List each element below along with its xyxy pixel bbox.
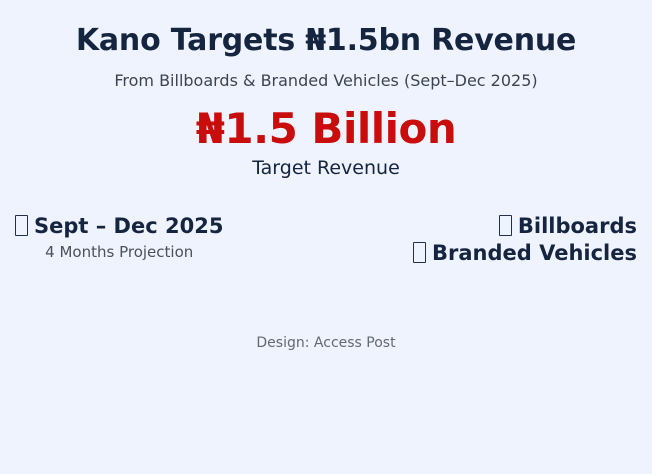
channels-column: Billboards Branded Vehicles	[413, 213, 637, 268]
vehicle-icon	[413, 242, 426, 263]
billboard-icon	[499, 215, 512, 236]
poster-canvas: Kano Targets ₦1.5bn Revenue From Billboa…	[0, 0, 652, 474]
channel-label-branded-vehicles: Branded Vehicles	[432, 241, 637, 265]
channel-label-billboards: Billboards	[518, 214, 637, 238]
channel-item-branded-vehicles: Branded Vehicles	[413, 240, 637, 267]
timeframe-sublabel: 4 Months Projection	[15, 243, 223, 262]
hero-figure: ₦1.5 Billion Target Revenue	[0, 106, 652, 180]
header-block: Kano Targets ₦1.5bn Revenue From Billboa…	[0, 0, 652, 90]
timeframe-column: Sept – Dec 2025 4 Months Projection	[15, 213, 223, 262]
detail-band: Sept – Dec 2025 4 Months Projection Bill…	[0, 213, 652, 268]
calendar-icon	[15, 215, 28, 236]
design-credit: Design: Access Post	[0, 335, 652, 352]
target-revenue-amount: ₦1.5 Billion	[0, 106, 652, 152]
timeframe-headline-label: Sept – Dec 2025	[34, 214, 223, 238]
page-title: Kano Targets ₦1.5bn Revenue	[0, 24, 652, 59]
timeframe-headline: Sept – Dec 2025	[15, 213, 223, 239]
target-revenue-caption: Target Revenue	[0, 157, 652, 180]
channel-item-billboards: Billboards	[413, 213, 637, 240]
page-subtitle: From Billboards & Branded Vehicles (Sept…	[0, 71, 652, 90]
